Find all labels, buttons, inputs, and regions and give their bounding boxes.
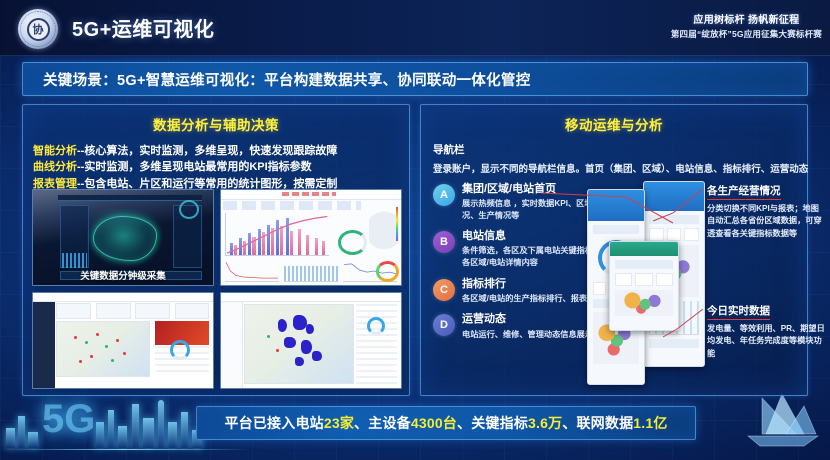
china-map-glow	[87, 209, 163, 268]
skyline-ground-line	[0, 449, 250, 450]
phone-mockup-overlay[interactable]	[609, 241, 679, 331]
callout-production-status: 各生产经营情况 分类切换不同KPI与报表；地图自动汇总各省份区域数据，可穿透查看…	[707, 181, 825, 240]
step-badge-d: D	[433, 314, 455, 336]
key-scene-text: 关键场景：5G+智慧运维可视化：平台构建数据共享、协同联动一体化管控	[23, 69, 531, 90]
mini-topnav	[221, 293, 401, 302]
bi-light-render	[221, 190, 401, 285]
stat-value-stations: 23家	[324, 415, 354, 431]
bullet-text: --实时监测，多维呈现电站最常用的KPI指标参数	[77, 161, 312, 173]
mini-kpi-card	[175, 303, 210, 318]
mini-small-chart	[284, 259, 338, 282]
bottom-stat-banner: 平台已接入电站23家、主设备4300台、关键指标3.6万、联网数据1.1亿	[196, 406, 696, 440]
phone-list-row	[649, 215, 699, 224]
regional-heatmap-render	[221, 293, 401, 388]
phone-tile	[649, 228, 664, 241]
left-panel-bullet-list: 智能分析--核心算法，实时监测，多维呈现，快速发现跟踪故障 曲线分析--实时监测…	[33, 143, 409, 192]
step-badge-b: B	[433, 231, 455, 253]
phone-header-bar	[588, 190, 644, 221]
phone-list-row	[615, 260, 673, 269]
right-panel-title: 移动运维与分析	[421, 114, 807, 134]
phone-map-widget	[615, 290, 673, 316]
mini-topnav	[33, 293, 213, 302]
station-map-render	[33, 293, 213, 388]
bottom-stat-text: 平台已接入电站23家、主设备4300台、关键指标3.6万、联网数据1.1亿	[224, 413, 667, 433]
logo-ring-decoration	[20, 11, 56, 47]
callout-description: 发电量、等效利用、PR、期望日均发电、年任务完成度等模块功能	[707, 323, 825, 360]
nav-description: 登录账户，显示不同的导航栏信息。首页（集团、区域）、电站信息、指标排行、运营动态	[433, 161, 807, 175]
stat-prefix-2: 、主设备	[354, 415, 411, 431]
page-title: 5G+运维可视化	[72, 13, 214, 42]
phone-tile-grid	[615, 273, 673, 286]
competition-branding: 应用树标杆 扬帆新征程 第四届“绽放杯”5G应用征集大赛标杆赛	[671, 15, 822, 39]
mini-station-map	[56, 321, 150, 377]
phone-list-row	[593, 225, 639, 234]
phone-content	[610, 256, 678, 330]
screenshot-caption: 关键数据分钟级采集	[33, 268, 213, 282]
mini-ring-chart	[367, 317, 385, 335]
slide-header: 协 5G+运维可视化 应用树标杆 扬帆新征程 第四届“绽放杯”5G应用征集大赛标…	[0, 0, 830, 56]
mini-heat-map	[244, 304, 354, 384]
mini-kpi-cards	[56, 303, 209, 318]
mini-ring-chart	[170, 340, 190, 360]
phone-header-bar	[644, 182, 704, 211]
phone-tile	[593, 282, 606, 295]
nav-title: 导航栏	[433, 142, 807, 157]
organization-logo: 协	[18, 9, 58, 49]
mini-sidenav	[221, 293, 243, 388]
bullet-item: 曲线分析--实时监测，多维呈现电站最常用的KPI指标参数	[33, 159, 409, 175]
branding-slogan: 应用树标杆 扬帆新征程	[671, 15, 822, 28]
branding-subtitle: 第四届“绽放杯”5G应用征集大赛标杆赛	[671, 29, 822, 40]
stat-prefix-4: 、联网数据	[562, 415, 633, 431]
key-scene-banner: 关键场景：5G+智慧运维可视化：平台构建数据共享、协同联动一体化管控	[22, 62, 808, 96]
slide-root: 协 5G+运维可视化 应用树标杆 扬帆新征程 第四届“绽放杯”5G应用征集大赛标…	[0, 0, 830, 460]
screenshot-station-map-console[interactable]	[32, 292, 214, 389]
mini-kpi-card	[96, 303, 131, 318]
mini-small-chart	[225, 259, 279, 282]
mobile-app-mockups	[587, 181, 711, 386]
phone-tile	[635, 273, 652, 286]
bullet-text: --核心算法，实时监测，多维呈现，快速发现跟踪故障	[77, 145, 337, 157]
phone-tile-grid	[649, 228, 699, 241]
city-5g-text: 5G	[42, 397, 95, 442]
bullet-key: 智能分析	[33, 145, 77, 157]
bullet-text: --包含电站、片区和运行等常用的统计图形，按需定制	[77, 178, 337, 190]
left-panel-data-analysis: 数据分析与辅助决策 智能分析--核心算法，实时监测，多维呈现，快速发现跟踪故障 …	[22, 104, 410, 396]
stat-value-network-data: 1.1亿	[633, 415, 667, 431]
mini-province-map	[369, 205, 400, 258]
nav-description-block: 导航栏 登录账户，显示不同的导航栏信息。首页（集团、区域）、电站信息、指标排行、…	[433, 142, 807, 175]
sailboat-decoration	[700, 390, 820, 452]
bullet-key: 报表管理	[33, 178, 77, 190]
stat-value-indicators: 3.6万	[528, 415, 562, 431]
phone-tile	[667, 228, 682, 241]
callout-title: 今日实时数据	[707, 303, 770, 320]
mini-small-chart-row	[225, 259, 398, 282]
phone-list-row	[649, 339, 699, 348]
callout-description: 分类切换不同KPI与报表；地图自动汇总各省份区域数据，可穿透查看各关键指标数据等	[707, 203, 825, 240]
mini-bar-chart	[62, 253, 87, 268]
step-badge-c: C	[433, 279, 455, 301]
mini-kpi-card	[135, 303, 170, 318]
stat-prefix-3: 、关键指标	[457, 415, 528, 431]
mini-dial	[179, 200, 199, 219]
stat-value-devices: 4300台	[411, 415, 457, 431]
mini-donut-gauge	[338, 230, 367, 255]
mini-toolbar	[223, 201, 362, 210]
mini-header	[221, 190, 401, 200]
phone-tile	[615, 273, 632, 286]
screenshot-bi-analysis-dashboard[interactable]	[220, 189, 402, 286]
callout-realtime-data: 今日实时数据 发电量、等效利用、PR、期望日均发电、年任务完成度等模块功能	[707, 301, 825, 360]
mini-kpi-card	[56, 303, 91, 318]
mini-trend-line	[225, 213, 329, 257]
bullet-key: 曲线分析	[33, 161, 77, 173]
screenshot-regional-heatmap-console[interactable]	[220, 292, 402, 389]
mini-topbar	[58, 195, 202, 202]
dashboard-screenshot-grid: 关键数据分钟级采集	[32, 189, 402, 389]
phone-header-bar	[610, 242, 678, 256]
callout-title: 各生产经营情况	[707, 183, 781, 200]
bullet-item: 智能分析--核心算法，实时监测，多维呈现，快速发现跟踪故障	[33, 143, 409, 159]
right-panel-mobile-ops: 移动运维与分析 导航栏 登录账户，显示不同的导航栏信息。首页（集团、区域）、电站…	[420, 104, 808, 396]
mini-sidenav	[33, 293, 55, 388]
left-panel-title: 数据分析与辅助决策	[23, 114, 409, 134]
screenshot-gis-dark-dashboard[interactable]: 关键数据分钟级采集	[32, 189, 214, 286]
phone-tile	[656, 273, 673, 286]
step-badge-a: A	[433, 184, 455, 206]
stat-prefix-1: 平台已接入电站	[224, 415, 323, 431]
phone-tile	[684, 228, 699, 241]
